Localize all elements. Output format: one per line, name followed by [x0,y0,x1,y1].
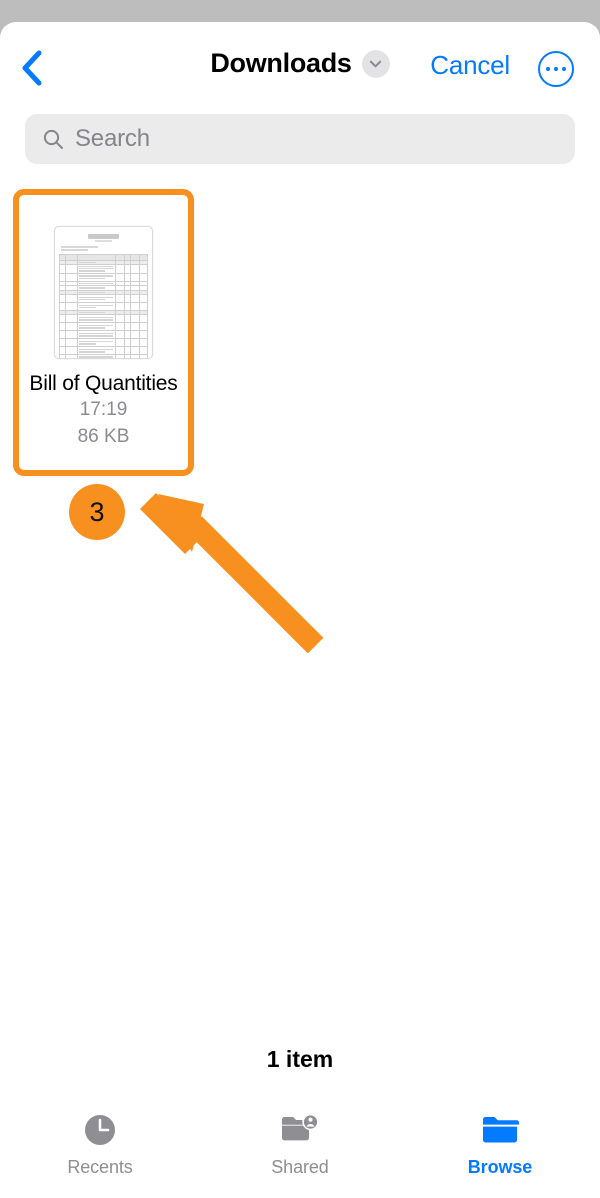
thumb-doc-subtitle [95,240,113,242]
folder-icon [481,1110,519,1150]
chevron-down-icon [368,56,383,71]
ellipsis-dot [562,67,567,72]
tab-label-browse: Browse [468,1157,532,1178]
tab-label-shared: Shared [271,1157,328,1178]
clock-icon [82,1110,118,1150]
thumb-doc-table [59,254,148,359]
thumb-doc-title [88,234,118,239]
page-title: Downloads [210,48,351,79]
tab-bar: Recents Shared [0,1096,600,1198]
back-button[interactable] [8,44,56,92]
file-name: Bill of Quantities [24,371,184,396]
folder-person-icon [280,1110,320,1150]
cancel-button[interactable]: Cancel [430,50,510,81]
title-chevron-button[interactable] [362,50,390,78]
document-thumbnail [54,226,153,359]
item-count-label: 1 item [0,1046,600,1073]
file-cell-bill-of-quantities[interactable]: Bill of Quantities 17:19 86 KB [13,212,194,499]
thumbnail-content [55,227,152,358]
file-size: 86 KB [78,423,130,450]
ellipsis-dot [554,67,559,72]
thumb-doc-meta [61,246,98,248]
search-icon [41,127,65,151]
tab-browse[interactable]: Browse [400,1110,600,1178]
tab-shared[interactable]: Shared [200,1110,400,1178]
search-input[interactable]: Search [25,114,575,164]
chevron-left-icon [20,48,44,88]
navigation-bar: Downloads Cancel [0,22,600,110]
tab-label-recents: Recents [67,1157,132,1178]
search-placeholder: Search [75,125,150,153]
title-group: Downloads [0,48,600,79]
more-options-button[interactable] [538,51,574,87]
tab-recents[interactable]: Recents [0,1110,200,1178]
ellipsis-dot [546,67,551,72]
file-time: 17:19 [80,396,128,423]
files-sheet: Downloads Cancel Search [0,22,600,1198]
screen: Downloads Cancel Search [0,0,600,1198]
thumb-doc-meta [61,249,88,251]
